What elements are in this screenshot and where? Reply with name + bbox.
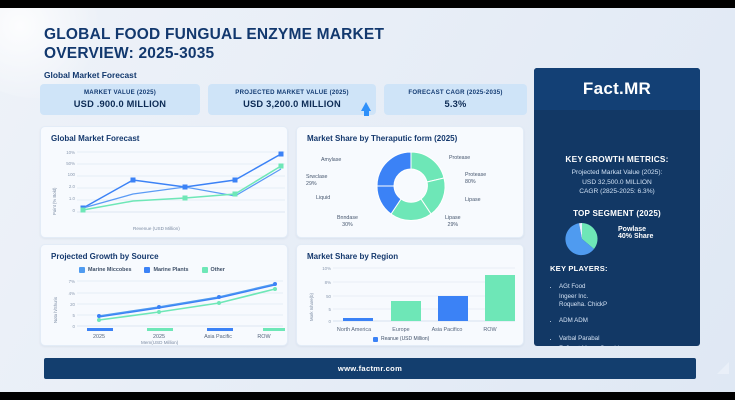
kpi-card-row: MARKET VALUE (2025) USD .900.0 MILLION P… [40, 84, 527, 115]
top-segment-heading: TOP SEGMENT (2025) [542, 209, 692, 218]
section-subtitle: Global Market Forecast [44, 70, 137, 80]
footer-url[interactable]: www.factmr.com [338, 364, 402, 373]
donut-label-bnndase: Bnndase 30% [337, 215, 358, 228]
chart-title: Global Market Forecast [51, 134, 139, 143]
legend-item-revenue[interactable]: Reanue (USD Million) [373, 336, 429, 342]
y-tick: 50% [55, 161, 75, 166]
list-item: AGt Food Ingeer Inc. Roqueha. ChickP [559, 275, 700, 310]
kpi-label: PROJECTED MARKET VALUE (2025) [217, 89, 367, 96]
chart-panel-market-share-therapeutic: Market Share by Theraputic form (2025) A… [296, 126, 524, 238]
line-chart-plot [77, 149, 287, 221]
key-players-heading: KEY PLAYERS: [550, 264, 700, 273]
donut-label-protease-pct: Protease 80% [465, 172, 486, 185]
footer-bar: www.factmr.com [44, 358, 696, 379]
y-tick: 0 [55, 324, 75, 329]
kpi-card-forecast-cagr[interactable]: FORECAST CAGR (2025-2035) 5.3% [384, 84, 527, 115]
legend-swatch [79, 267, 85, 273]
chart-legend: Marine Miccobes Marine Plants Other [79, 267, 225, 273]
legend-swatch [373, 337, 378, 342]
chart-legend: Reanue (USD Million) [373, 336, 429, 342]
y-axis-label: Nota h/Shuris [53, 297, 58, 323]
donut-label-protease: Protease [449, 155, 470, 162]
y-tick: 20 [55, 302, 75, 307]
player-name: AGt Food [559, 283, 585, 290]
player-sub: Ingeer Inc. [559, 293, 700, 301]
legend-label: Marine Plants [153, 267, 188, 273]
y-tick: 8% [309, 280, 331, 285]
y-tick: 5 [309, 307, 331, 312]
top-segment-pie-icon [556, 222, 608, 256]
kpi-label: FORECAST CAGR (2025-2035) [393, 89, 518, 96]
kpi-value: USD .900.0 MILLION [49, 99, 191, 109]
y-tick: 5 [55, 313, 75, 318]
x-tick: Asia Pacifico [421, 327, 473, 333]
up-arrow-icon [361, 102, 371, 111]
legend-item-other[interactable]: Other [202, 267, 225, 273]
legend-label: Reanue (USD Million) [381, 336, 429, 342]
kpi-label: MARKET VALUE (2025) [49, 89, 191, 96]
logo-text: Fact.MR [583, 79, 651, 99]
kpi-card-market-value[interactable]: MARKET VALUE (2025) USD .900.0 MILLION [40, 84, 200, 115]
key-growth-metrics-heading: KEY GROWTH METRICS: [542, 154, 692, 164]
key-players-list: AGt Food Ingeer Inc. Roqueha. ChickP ADM… [550, 275, 700, 346]
chart-panel-market-share-by-region: Market Share by Region Mork Ishare(b) 10… [296, 244, 524, 346]
player-sub: Roqueha. ChickP [559, 301, 700, 309]
legend-label: Other [211, 267, 225, 273]
y-tick: 10% [309, 266, 331, 271]
x-tick: Europe [379, 327, 423, 333]
chart-title: Market Share by Theraputic form (2025) [307, 134, 457, 143]
y-tick: 1.0 [55, 196, 75, 201]
list-item: ADM ADM [559, 309, 700, 327]
x-tick: 2025 [77, 334, 121, 340]
bar-chart-plot [333, 265, 517, 325]
chart-panel-global-market-forecast: Global Market Forecast Point (% Bold) 10… [40, 126, 288, 238]
y-tick: 0 [309, 319, 331, 324]
chart-panel-projected-growth-by-source: Projected Growth by Source Marine Miccob… [40, 244, 288, 346]
top-segment-label: Powlase [618, 226, 653, 233]
chart-title: Market Share by Region [307, 252, 398, 261]
donut-label-srwclase: Srwclase 29% [306, 174, 328, 187]
legend-swatch [144, 267, 150, 273]
y-tick: 7% [55, 279, 75, 284]
legend-item-marine-plants[interactable]: Marine Plants [144, 267, 188, 273]
y-tick: 2.0 [55, 184, 75, 189]
donut-label-lipase: Lipase [465, 197, 481, 204]
kpi-card-projected-market-value[interactable]: PROJECTED MARKET VALUE (2025) USD 3,200.… [208, 84, 376, 115]
metric-line: Projected Markat Value (2025): [542, 168, 692, 178]
x-tick: ROW [247, 334, 281, 340]
kpi-value: 5.3% [393, 99, 518, 109]
y-tick: 50 [309, 294, 331, 299]
player-name: Varbal Parabal [559, 335, 599, 342]
legend-item-marine-miccobes[interactable]: Marine Miccobes [79, 267, 131, 273]
metric-line: CAGR (2825-2025: 6.3%) [542, 187, 692, 197]
player-sub: Fafbont Myers Scouble [559, 345, 700, 346]
x-tick: Asia Pacific [193, 334, 243, 340]
donut-label-liquid: Liquid [316, 195, 330, 202]
player-name: ADM ADM [559, 317, 588, 324]
x-axis-label: Revenue (USD Million) [133, 226, 180, 231]
top-segment-share: 40% Share [618, 233, 653, 240]
page-title: GLOBAL FOOD FUNGUAL ENZYME MARKET OVERVI… [44, 26, 384, 64]
metric-line: USD 32,500.0 MILLION [542, 178, 692, 188]
legend-label: Marine Miccobes [88, 267, 131, 273]
x-tick: ROW [473, 327, 507, 333]
donut-label-lipase-pct: Lipase 29% [445, 215, 461, 228]
list-item: Varbal Parabal Fafbont Myers Scouble [559, 327, 700, 346]
growth-chart-plot [77, 278, 285, 332]
y-tick: 10% [55, 150, 75, 155]
y-tick: 0 [55, 208, 75, 213]
x-tick: North America [327, 327, 381, 333]
legend-swatch [202, 267, 208, 273]
infographic-slide: GLOBAL FOOD FUNGUAL ENZYME MARKET OVERVI… [0, 8, 735, 392]
donut-chart-plot [359, 149, 463, 223]
y-tick: 4% [55, 291, 75, 296]
donut-label-amylase: Amylase [321, 157, 341, 164]
chart-title: Projected Growth by Source [51, 252, 159, 261]
corner-fold-decoration [717, 362, 729, 374]
brand-logo: Fact.MR [534, 68, 700, 110]
y-tick: 100 [55, 172, 75, 177]
sidebar-panel: Fact.MR KEY GROWTH METRICS: Projected Ma… [534, 68, 700, 346]
kpi-value: USD 3,200.0 MILLION [217, 99, 367, 109]
x-axis-label: Mem(USD Million) [141, 340, 178, 345]
